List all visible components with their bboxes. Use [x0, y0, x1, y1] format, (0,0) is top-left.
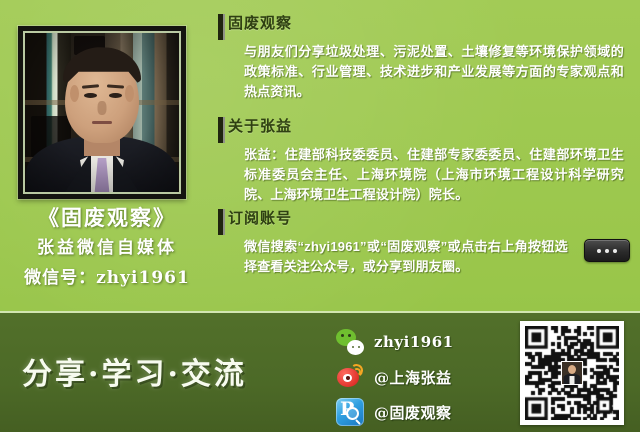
- section-title: 固废观察: [228, 12, 640, 36]
- portrait-photo: [23, 31, 181, 194]
- mini-face: [568, 365, 576, 374]
- section-marker-bar: [218, 14, 225, 40]
- list-item[interactable]: P @固废观察: [336, 395, 496, 429]
- account-title: 《固废观察》: [0, 203, 214, 233]
- wechat-account-promo-card: 《固废观察》 张益微信自媒体 微信号：zhyi1961 固废观察 与朋友们分享垃…: [0, 0, 640, 432]
- profile-column: 《固废观察》 张益微信自媒体 微信号：zhyi1961: [0, 0, 214, 313]
- social-label: zhyi1961: [374, 333, 454, 351]
- section-about-column: 固废观察 与朋友们分享垃圾处理、污泥处置、土壤修复等环境保护领域的政策标准、行业…: [214, 12, 640, 102]
- section-body: 微信搜索“zhyi1961”或“固废观察”或点击右上角按钮选择查看关注公众号，或…: [244, 237, 568, 277]
- section-body: 张益：住建部科技委委员、住建部专家委委员、住建部环境卫生标准委员会主任、上海环境…: [244, 145, 624, 205]
- blog-search-icon: P: [336, 398, 364, 426]
- section-title: 关于张益: [228, 115, 640, 139]
- photo-vignette: [25, 33, 179, 192]
- account-subtitle: 张益微信自媒体: [0, 233, 214, 263]
- social-label: @固废观察: [374, 402, 452, 423]
- footer-bar: 分享·学习·交流 zhyi1961 @上海张益 P: [0, 313, 640, 432]
- list-item[interactable]: zhyi1961: [336, 325, 496, 359]
- social-label: @上海张益: [374, 367, 452, 388]
- section-subscribe: 订阅账号 微信搜索“zhyi1961”或“固废观察”或点击右上角按钮选择查看关注…: [214, 207, 640, 277]
- wechat-id-label: 微信号：zhyi1961: [0, 263, 214, 293]
- wechat-icon: [336, 328, 364, 356]
- profile-captions: 《固废观察》 张益微信自媒体 微信号：zhyi1961: [0, 203, 214, 293]
- mini-shirt: [570, 376, 575, 384]
- weibo-icon: [336, 363, 364, 391]
- social-accounts-list: zhyi1961 @上海张益 P @固废观察: [336, 325, 496, 430]
- section-header: 关于张益: [214, 115, 640, 145]
- section-body: 与朋友们分享垃圾处理、污泥处置、土壤修复等环境保护领域的政策标准、行业管理、技术…: [244, 42, 624, 102]
- section-marker-bar: [218, 117, 225, 143]
- dot-icon: [605, 249, 609, 253]
- info-sections-column: 固废观察 与朋友们分享垃圾处理、污泥处置、土壤修复等环境保护领域的政策标准、行业…: [214, 0, 640, 313]
- list-item[interactable]: @上海张益: [336, 360, 496, 394]
- wechat-qr-code[interactable]: [520, 321, 624, 425]
- portrait-photo-frame: [18, 26, 186, 199]
- section-title: 订阅账号: [228, 207, 640, 231]
- footer-slogan: 分享·学习·交流: [22, 349, 247, 393]
- qr-center-avatar: [561, 361, 583, 385]
- section-about-author: 关于张益 张益：住建部科技委委员、住建部专家委委员、住建部环境卫生标准委员会主任…: [214, 115, 640, 205]
- dot-icon: [613, 249, 617, 253]
- more-options-button[interactable]: [584, 239, 630, 262]
- section-marker-bar: [218, 209, 225, 235]
- dot-icon: [597, 249, 601, 253]
- section-header: 固废观察: [214, 12, 640, 42]
- section-header: 订阅账号: [214, 207, 640, 237]
